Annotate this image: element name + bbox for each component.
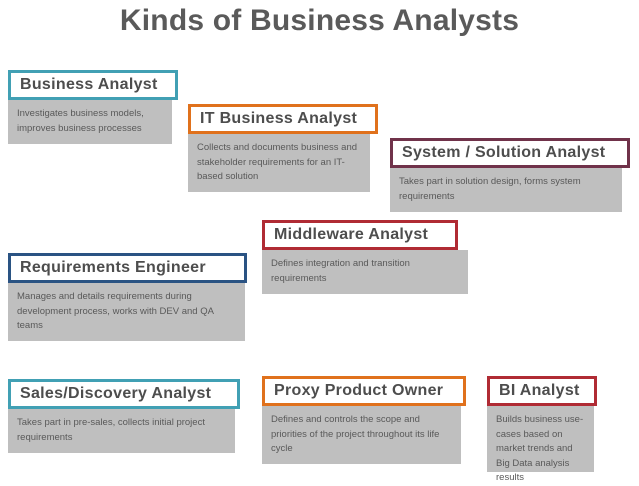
card-description-business-analyst: Investigates business models, improves b… [8,100,172,144]
card-title-sales-discovery-analyst: Sales/Discovery Analyst [8,379,240,409]
card-description-proxy-product-owner: Defines and controls the scope and prior… [262,406,461,464]
card-title-bi-analyst: BI Analyst [487,376,597,406]
card-description-middleware-analyst: Defines integration and transition requi… [262,250,468,294]
card-title-it-business-analyst: IT Business Analyst [188,104,378,134]
card-title-business-analyst: Business Analyst [8,70,178,100]
page-title: Kinds of Business Analysts [0,4,639,38]
card-title-system-solution-analyst: System / Solution Analyst [390,138,630,168]
card-title-middleware-analyst: Middleware Analyst [262,220,458,250]
card-description-bi-analyst: Builds business use-cases based on marke… [487,406,594,472]
slide-canvas: Kinds of Business Analysts Investigates … [0,0,639,472]
card-title-proxy-product-owner: Proxy Product Owner [262,376,466,406]
card-description-it-business-analyst: Collects and documents business and stak… [188,134,370,192]
card-description-requirements-engineer: Manages and details requirements during … [8,283,245,341]
card-description-sales-discovery-analyst: Takes part in pre-sales, collects initia… [8,409,235,453]
card-title-requirements-engineer: Requirements Engineer [8,253,247,283]
card-description-system-solution-analyst: Takes part in solution design, forms sys… [390,168,622,212]
